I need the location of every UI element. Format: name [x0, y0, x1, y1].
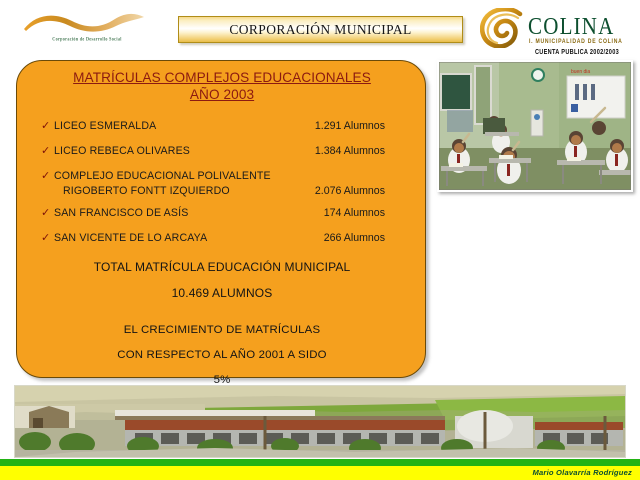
corporacion-desarrollo-social-logo: Corporación de Desarrollo Social [14, 8, 154, 50]
school-enrollment-count: 2.076 Alumnos [315, 183, 385, 200]
school-name: LICEO ESMERALDA [54, 118, 156, 135]
school-name: LICEO REBECA OLIVARES [54, 143, 190, 160]
footer-author-name: Mario Olavarría Rodríguez [532, 466, 632, 479]
panel-title-line2: AÑO 2003 [190, 87, 254, 102]
total-label: TOTAL MATRÍCULA EDUCACIÓN MUNICIPAL [17, 254, 427, 280]
total-value: 10.469 ALUMNOS [17, 280, 427, 306]
list-item: ✓ SAN FRANCISCO DE ASÍS 174 Alumnos [41, 205, 409, 230]
check-icon: ✓ [41, 118, 53, 135]
enrollment-panel: MATRÍCULAS COMPLEJOS EDUCACIONALES AÑO 2… [16, 60, 426, 378]
school-enrollment-count: 266 Alumnos [324, 230, 385, 247]
list-item: ✓ LICEO ESMERALDA 1.291 Alumnos [41, 118, 409, 143]
school-enrollment-count: 1.291 Alumnos [315, 118, 385, 135]
spiral-icon [480, 8, 524, 48]
growth-line-1: EL CRECIMIENTO DE MATRÍCULAS [17, 318, 427, 343]
footer-green-bar [0, 459, 640, 466]
school-enrollment-count: 1.384 Alumnos [315, 143, 385, 160]
classroom-photo: buen dia [437, 60, 633, 192]
colina-municipality-logo: COLINA I. MUNICIPALIDAD DE COLINA CUENTA… [480, 6, 635, 58]
check-icon: ✓ [41, 230, 53, 247]
panel-title-line1: MATRÍCULAS COMPLEJOS EDUCACIONALES [73, 70, 371, 85]
list-item: ✓ LICEO REBECA OLIVARES 1.384 Alumnos [41, 143, 409, 168]
colina-wordmark: COLINA [528, 12, 615, 41]
school-name: SAN VICENTE DE LO ARCAYA [54, 230, 207, 247]
totals-block: TOTAL MATRÍCULA EDUCACIÓN MUNICIPAL 10.4… [17, 254, 427, 393]
check-icon: ✓ [41, 168, 53, 185]
svg-text:buen dia: buen dia [571, 69, 590, 75]
school-name: SAN FRANCISCO DE ASÍS [54, 205, 188, 222]
school-enrollment-count: 174 Alumnos [324, 205, 385, 222]
colina-subtitle: I. MUNICIPALIDAD DE COLINA [529, 38, 623, 46]
list-item: ✓ SAN VICENTE DE LO ARCAYA 266 Alumnos [41, 230, 409, 255]
school-building-photo-image [15, 386, 625, 457]
slide-title: CORPORACIÓN MUNICIPAL [179, 17, 462, 44]
growth-block: EL CRECIMIENTO DE MATRÍCULAS CON RESPECT… [17, 318, 427, 393]
check-icon: ✓ [41, 205, 53, 222]
school-name-continuation: RIGOBERTO FONTT IZQUIERDO [63, 183, 230, 200]
list-item: ✓ COMPLEJO EDUCACIONAL POLIVALENTE RIGOB… [41, 168, 409, 205]
slide-header: Corporación de Desarrollo Social CORPORA… [0, 0, 640, 56]
corporacion-logo-caption: Corporación de Desarrollo Social [22, 35, 152, 41]
swoosh-icon [20, 10, 148, 36]
slide-title-banner: CORPORACIÓN MUNICIPAL [178, 16, 463, 43]
panel-title: MATRÍCULAS COMPLEJOS EDUCACIONALES AÑO 2… [17, 69, 427, 103]
growth-line-2: CON RESPECTO AL AÑO 2001 A SIDO [17, 343, 427, 368]
school-enrollment-list: ✓ LICEO ESMERALDA 1.291 Alumnos ✓ LICEO … [41, 118, 409, 255]
school-building-photo [14, 385, 626, 458]
classroom-photo-image: buen dia [439, 62, 631, 190]
check-icon: ✓ [41, 143, 53, 160]
cuenta-publica-tagline: CUENTA PUBLICA 2002/2003 [522, 49, 632, 57]
